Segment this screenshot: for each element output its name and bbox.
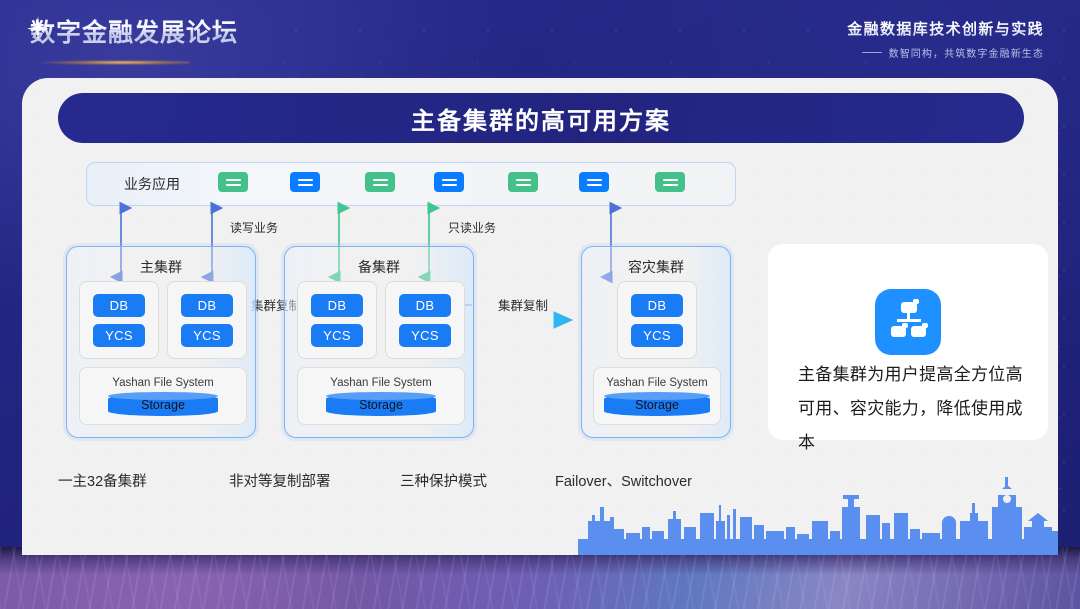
file-system-box-dr: Yashan File System Storage — [593, 367, 721, 425]
header-right: 金融数据库技术创新与实践 数智同构，共筑数字金融新生态 — [847, 18, 1044, 60]
ycs-chip: YCS — [311, 324, 363, 347]
cluster-node-standby-2: DB YCS — [385, 281, 465, 359]
feature-label-2: 非对等复制部署 — [229, 470, 331, 491]
info-card-text: 主备集群为用户提高全方位高可用、容灾能力，降低使用成本 — [798, 358, 1024, 460]
storage-cylinder: Storage — [604, 394, 710, 416]
file-system-box-standby: Yashan File System Storage — [297, 367, 465, 425]
file-system-label: Yashan File System — [330, 377, 431, 389]
storage-label: Storage — [141, 398, 185, 412]
monitor-icon-3 — [365, 172, 395, 198]
file-system-label: Yashan File System — [606, 377, 707, 389]
cluster-topology-glyph — [875, 289, 941, 355]
monitor-icon-5 — [508, 172, 538, 198]
storage-cylinder: Storage — [326, 394, 436, 416]
db-chip: DB — [93, 294, 145, 317]
forum-logo: 数字金融发展论坛 — [30, 16, 238, 50]
subtitle-dash — [862, 52, 882, 53]
logo-underline-glow — [40, 60, 190, 65]
monitor-icon-1 — [218, 172, 248, 198]
header-right-subtitle: 数智同构，共筑数字金融新生态 — [889, 45, 1044, 60]
cluster-topology-icon — [875, 289, 941, 355]
header: 数字金融发展论坛 金融数据库技术创新与实践 数智同构，共筑数字金融新生态 — [0, 0, 1080, 78]
header-right-title: 金融数据库技术创新与实践 — [847, 18, 1044, 39]
ycs-chip: YCS — [631, 324, 683, 347]
storage-cylinder: Storage — [108, 394, 218, 416]
file-system-box-primary: Yashan File System Storage — [79, 367, 247, 425]
monitor-icon-4 — [434, 172, 464, 198]
architecture-diagram: 业务应用 — [66, 162, 746, 462]
replication-label-2: 集群复制 — [498, 295, 548, 314]
city-skyline-graphic — [578, 477, 1058, 555]
cluster-node-dr-1: DB YCS — [617, 281, 697, 359]
cluster-panel-primary: 主集群 DB YCS DB YCS Yashan File System Sto… — [66, 246, 256, 438]
cluster-node-primary-2: DB YCS — [167, 281, 247, 359]
ycs-chip: YCS — [181, 324, 233, 347]
db-chip: DB — [399, 294, 451, 317]
page-title: 主备集群的高可用方案 — [411, 101, 671, 136]
db-chip: DB — [181, 294, 233, 317]
ycs-chip: YCS — [93, 324, 145, 347]
cluster-panel-standby: 备集群 DB YCS DB YCS Yashan File System Sto… — [284, 246, 474, 438]
business-application-bar: 业务应用 — [86, 162, 736, 206]
monitor-icon-7 — [655, 172, 685, 198]
cluster-title-dr: 容灾集群 — [582, 257, 730, 277]
file-system-label: Yashan File System — [112, 377, 213, 389]
cluster-node-standby-1: DB YCS — [297, 281, 377, 359]
feature-label-1: 一主32备集群 — [58, 470, 147, 491]
slide-card: 主备集群的高可用方案 业务应用 — [22, 78, 1058, 555]
business-application-label: 业务应用 — [124, 174, 180, 194]
background-aurora-strip — [0, 547, 1080, 609]
slide-title-bar: 主备集群的高可用方案 — [58, 93, 1024, 143]
db-chip: DB — [631, 294, 683, 317]
flow-label-read-write: 读写业务 — [230, 219, 278, 236]
ycs-chip: YCS — [399, 324, 451, 347]
cluster-panel-dr: 容灾集群 DB YCS Yashan File System Storage — [581, 246, 731, 438]
storage-label: Storage — [635, 398, 679, 412]
storage-label: Storage — [359, 398, 403, 412]
forum-logo-text: 数字金融发展论坛 — [30, 16, 238, 50]
cluster-title-standby: 备集群 — [285, 257, 473, 277]
cluster-title-primary: 主集群 — [67, 257, 255, 277]
monitor-icon-2 — [290, 172, 320, 198]
db-chip: DB — [311, 294, 363, 317]
cluster-node-primary-1: DB YCS — [79, 281, 159, 359]
monitor-icon-6 — [579, 172, 609, 198]
flow-label-read-only: 只读业务 — [448, 219, 496, 236]
header-right-subtitle-row: 数智同构，共筑数字金融新生态 — [847, 45, 1044, 60]
feature-label-3: 三种保护模式 — [400, 470, 487, 491]
